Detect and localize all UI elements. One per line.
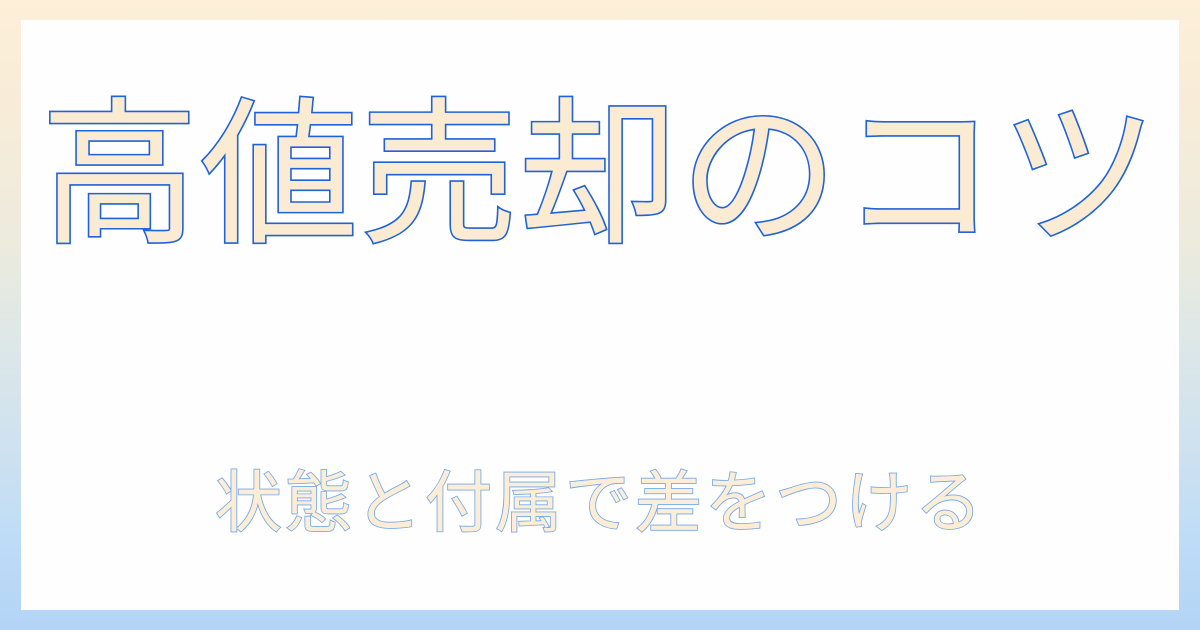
poster-canvas: 高値売却のコツ 状態と付属で差をつける (0, 0, 1200, 630)
headline-container: 高値売却のコツ (21, 0, 1179, 361)
content-card: 高値売却のコツ 状態と付属で差をつける (21, 20, 1179, 610)
subhead-container: 状態と付属で差をつける (21, 415, 1179, 593)
page-title: 高値売却のコツ (40, 97, 1159, 255)
page-subtitle: 状態と付属で差をつける (215, 470, 985, 537)
